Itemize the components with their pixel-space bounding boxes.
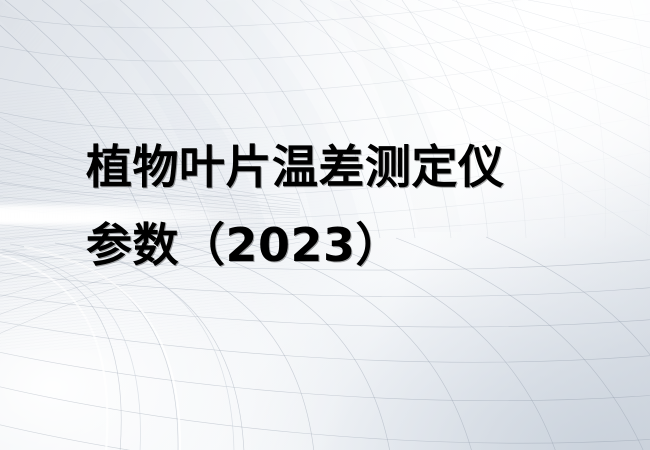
slide-title: 植物叶片温差测定仪 参数（2023）	[86, 128, 586, 284]
slide-canvas: 植物叶片温差测定仪 参数（2023）	[0, 0, 650, 450]
title-line-1: 植物叶片温差测定仪	[86, 128, 586, 206]
title-line-2: 参数（2023）	[86, 206, 586, 284]
